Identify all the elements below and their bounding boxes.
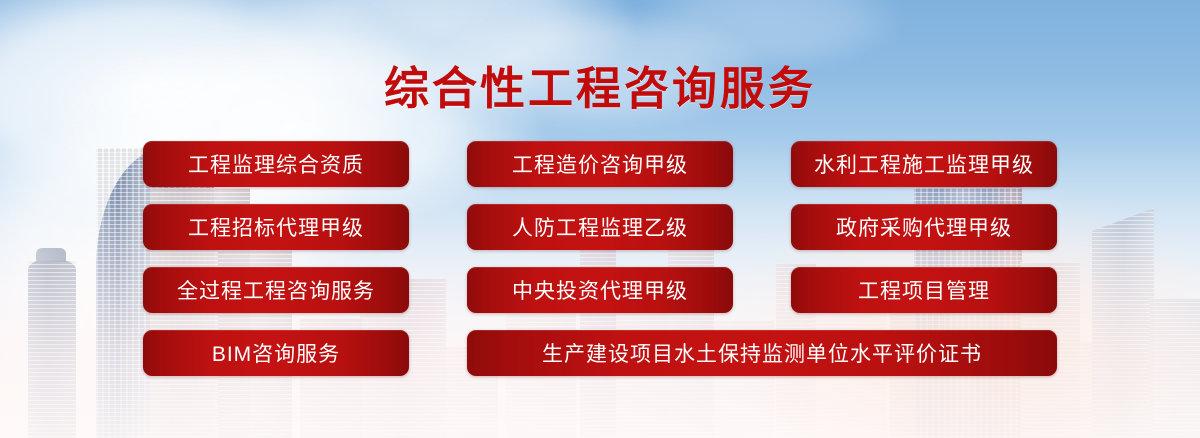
- qualification-badge[interactable]: 水利工程施工监理甲级: [791, 141, 1057, 187]
- qualification-badge[interactable]: 工程监理综合资质: [143, 141, 409, 187]
- building-shape: [1062, 342, 1092, 438]
- qualification-badge[interactable]: 人防工程监理乙级: [467, 204, 733, 250]
- page-title: 综合性工程咨询服务: [0, 52, 1200, 117]
- qualification-badge[interactable]: 生产建设项目水土保持监测单位水平评价证书: [467, 330, 1057, 376]
- building-shape: [1092, 208, 1154, 438]
- qualification-badge[interactable]: 政府采购代理甲级: [791, 204, 1057, 250]
- qualification-row: 工程招标代理甲级 人防工程监理乙级 政府采购代理甲级: [143, 204, 1057, 250]
- qualification-row: 全过程工程咨询服务 中央投资代理甲级 工程项目管理: [143, 267, 1057, 313]
- qualification-badge[interactable]: 工程项目管理: [791, 267, 1057, 313]
- qualification-banner: 综合性工程咨询服务 工程监理综合资质 工程造价咨询甲级 水利工程施工监理甲级 工…: [0, 0, 1200, 438]
- qualification-badge[interactable]: 中央投资代理甲级: [467, 267, 733, 313]
- building-shape: [36, 248, 66, 262]
- qualification-badge[interactable]: 工程造价咨询甲级: [467, 141, 733, 187]
- qualification-row: BIM咨询服务 生产建设项目水土保持监测单位水平评价证书: [143, 330, 1057, 376]
- building-shape: [1150, 298, 1200, 438]
- qualification-badge[interactable]: 全过程工程咨询服务: [143, 267, 409, 313]
- qualification-grid: 工程监理综合资质 工程造价咨询甲级 水利工程施工监理甲级 工程招标代理甲级 人防…: [143, 141, 1057, 376]
- building-shape: [28, 260, 76, 438]
- qualification-badge[interactable]: 工程招标代理甲级: [143, 204, 409, 250]
- qualification-badge[interactable]: BIM咨询服务: [143, 330, 409, 376]
- qualification-row: 工程监理综合资质 工程造价咨询甲级 水利工程施工监理甲级: [143, 141, 1057, 187]
